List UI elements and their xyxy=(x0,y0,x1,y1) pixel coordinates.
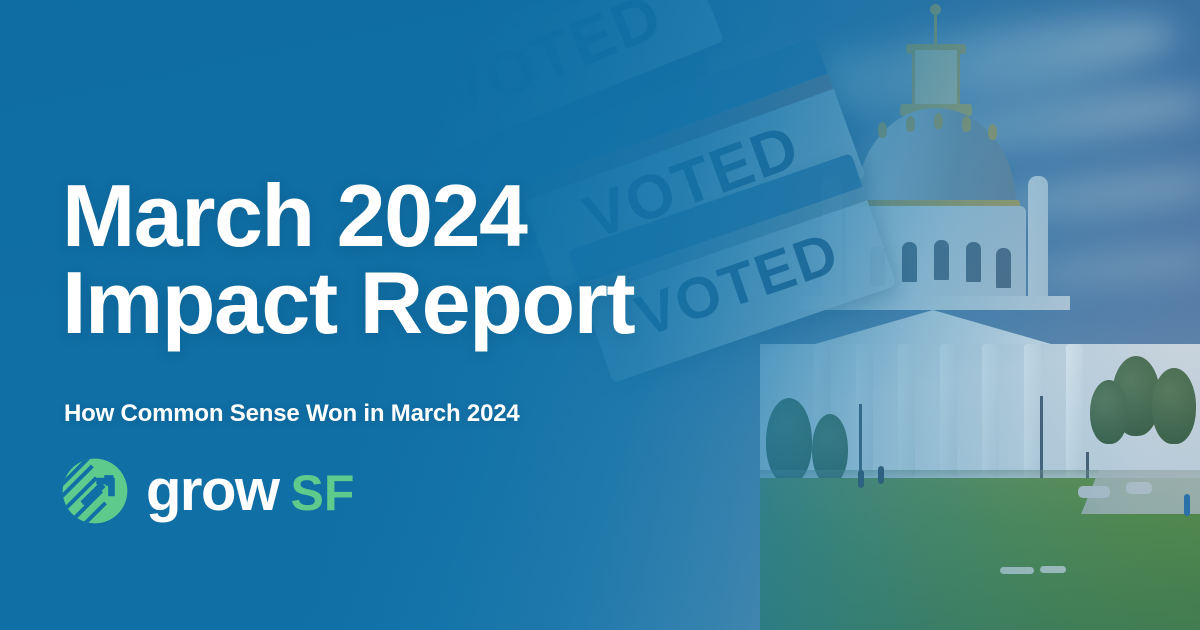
title-line-1: March 2024 xyxy=(62,172,762,259)
content-block: March 2024 Impact Report How Common Sens… xyxy=(62,0,762,630)
logo-word-sf: SF xyxy=(291,465,355,521)
title-line-2: Impact Report xyxy=(62,259,762,346)
impact-report-social-card: ★ ★ ★ ★ ★ ★ ★ ★ ★ ★ VOTED VOTED xyxy=(0,0,1200,630)
growsf-wordmark: growSF xyxy=(146,462,354,520)
growsf-logo[interactable]: growSF xyxy=(62,458,354,524)
growsf-arrow-circle-logo-icon xyxy=(62,458,128,524)
page-title: March 2024 Impact Report xyxy=(62,172,762,346)
subtitle: How Common Sense Won in March 2024 xyxy=(64,400,764,428)
logo-word-grow: grow xyxy=(146,458,279,523)
